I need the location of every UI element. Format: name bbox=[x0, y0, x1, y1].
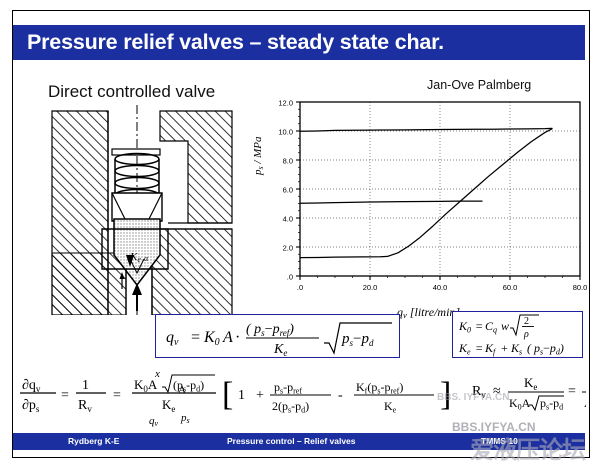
svg-text:10.0: 10.0 bbox=[278, 128, 293, 137]
deriv-term-one: 1 bbox=[238, 388, 245, 403]
footer-author: Rydberg K-E bbox=[68, 436, 119, 446]
spring-stiffness-label: Ke bbox=[130, 251, 141, 264]
eq-ke-plus: + bbox=[501, 341, 508, 355]
chart-gridlines bbox=[300, 102, 580, 276]
rv-num: Ke bbox=[524, 375, 537, 392]
deriv-f3-den: Ke bbox=[384, 399, 397, 415]
watermark-chinese: 爱液压论坛 bbox=[470, 430, 585, 465]
svg-text:4.0: 4.0 bbox=[283, 215, 293, 224]
eq-main-sqrt-body: ps−pd bbox=[341, 331, 374, 348]
eq-ke-equals: = bbox=[475, 341, 483, 355]
eq-ke-lhs: Ke bbox=[458, 341, 471, 357]
direct-controlled-valve-diagram: α Ke pd x A bbox=[48, 103, 236, 315]
deriv-equals-2: = bbox=[113, 388, 121, 403]
svg-text:20.0: 20.0 bbox=[363, 283, 378, 292]
eq-main-numerator: ( ps−pref) bbox=[246, 322, 294, 338]
rv-final-den: AKq bbox=[584, 395, 586, 412]
steady-state-characteristic-chart: .02.04.06.08.010.012.0.020.040.060.080.0 bbox=[258, 92, 588, 307]
watermark-mid: BBS. IYFYA.CN bbox=[437, 392, 509, 403]
eq-main-area: A bbox=[222, 329, 233, 346]
eq-main-dot: · bbox=[235, 329, 240, 346]
deriv-f3-num: Kf(ps-pref) bbox=[356, 380, 403, 396]
eq-k0-cq: Cq bbox=[485, 319, 497, 335]
svg-text:6.0: 6.0 bbox=[283, 186, 293, 195]
eq-main-k0: K0 bbox=[203, 329, 220, 348]
deriv-bracket-open: [ bbox=[222, 376, 233, 413]
eq-main-lhs: qv bbox=[166, 329, 179, 348]
main-flow-equation-box: qv = K0 A · ( ps−pref) Ke ps−pd bbox=[155, 314, 400, 358]
deriv-f2-num: ps-pref bbox=[274, 380, 302, 396]
svg-text:60.0: 60.0 bbox=[503, 283, 518, 292]
inlet-flow-arrow bbox=[132, 283, 142, 311]
eq-k0-frac-num: 2 bbox=[524, 316, 529, 327]
eq-main-denominator: Ke bbox=[273, 342, 287, 357]
deriv-den: ∂ps bbox=[22, 398, 40, 414]
svg-text:40.0: 40.0 bbox=[433, 283, 448, 292]
chart-x-axis-label: qv [litre/min] bbox=[397, 305, 460, 320]
deriv-f2-den: 2(ps-pd) bbox=[272, 399, 309, 415]
slide-title-bar: Pressure relief valves – steady state ch… bbox=[13, 25, 585, 60]
coefficient-definitions-box: K0 = Cq w 2 ρ Ke = Kf + Ks ( ps− bbox=[452, 311, 583, 358]
svg-text:12.0: 12.0 bbox=[278, 99, 293, 108]
chart-tick-labels: .02.04.06.08.010.012.0.020.040.060.080.0 bbox=[278, 99, 587, 293]
rv-equals: = bbox=[568, 384, 576, 399]
deriv-num: ∂qv bbox=[22, 378, 41, 394]
chart-credit-label: Jan-Ove Palmberg bbox=[427, 78, 531, 92]
svg-text:.0: .0 bbox=[297, 283, 303, 292]
deriv-plus: + bbox=[256, 388, 264, 403]
eq-k0-w: w bbox=[501, 319, 509, 333]
valve-figure-heading: Direct controlled valve bbox=[48, 82, 215, 102]
svg-text:8.0: 8.0 bbox=[283, 157, 293, 166]
deriv-minus: - bbox=[338, 388, 343, 403]
rv-den: K0A bbox=[509, 396, 531, 412]
deriv-equals-1: = bbox=[61, 388, 69, 403]
rv-den-sqrt-body: ps-pd bbox=[540, 396, 563, 412]
page-title: Pressure relief valves – steady state ch… bbox=[13, 30, 444, 55]
svg-text:80.0: 80.0 bbox=[573, 283, 588, 292]
chart-y-axis-label: ps / MPa bbox=[252, 136, 265, 175]
eq-ke-kf: Kf bbox=[484, 341, 497, 357]
deriv-one: 1 bbox=[82, 378, 89, 393]
eq-k0-frac-den: ρ bbox=[523, 329, 529, 340]
deriv-rv: Rv bbox=[78, 398, 92, 414]
deriv-frac-den: Ke bbox=[162, 397, 175, 414]
svg-text:.0: .0 bbox=[287, 273, 293, 282]
svg-text:2.0: 2.0 bbox=[283, 244, 293, 253]
valve-poppet-shoulder bbox=[112, 193, 162, 221]
valve-body-hatching-right-bottom bbox=[152, 229, 232, 315]
eq-ke-ks: Ks bbox=[510, 341, 522, 357]
chart-series-group bbox=[300, 128, 552, 257]
deriv-sqrt-body: (ps-pd) bbox=[173, 378, 204, 394]
eq-k0-equals: = bbox=[475, 319, 483, 333]
eq-main-equals: = bbox=[190, 329, 201, 346]
eq-k0-lhs: K0 bbox=[458, 319, 471, 335]
footer-subject: Pressure control – Relief valves bbox=[227, 436, 356, 446]
slide-canvas: Pressure relief valves – steady state ch… bbox=[0, 0, 600, 466]
valve-body-hatching-right-top bbox=[160, 111, 232, 223]
deriv-frac-num: K0A bbox=[134, 377, 158, 394]
eq-ke-paren: ( ps−pd) bbox=[527, 341, 564, 357]
